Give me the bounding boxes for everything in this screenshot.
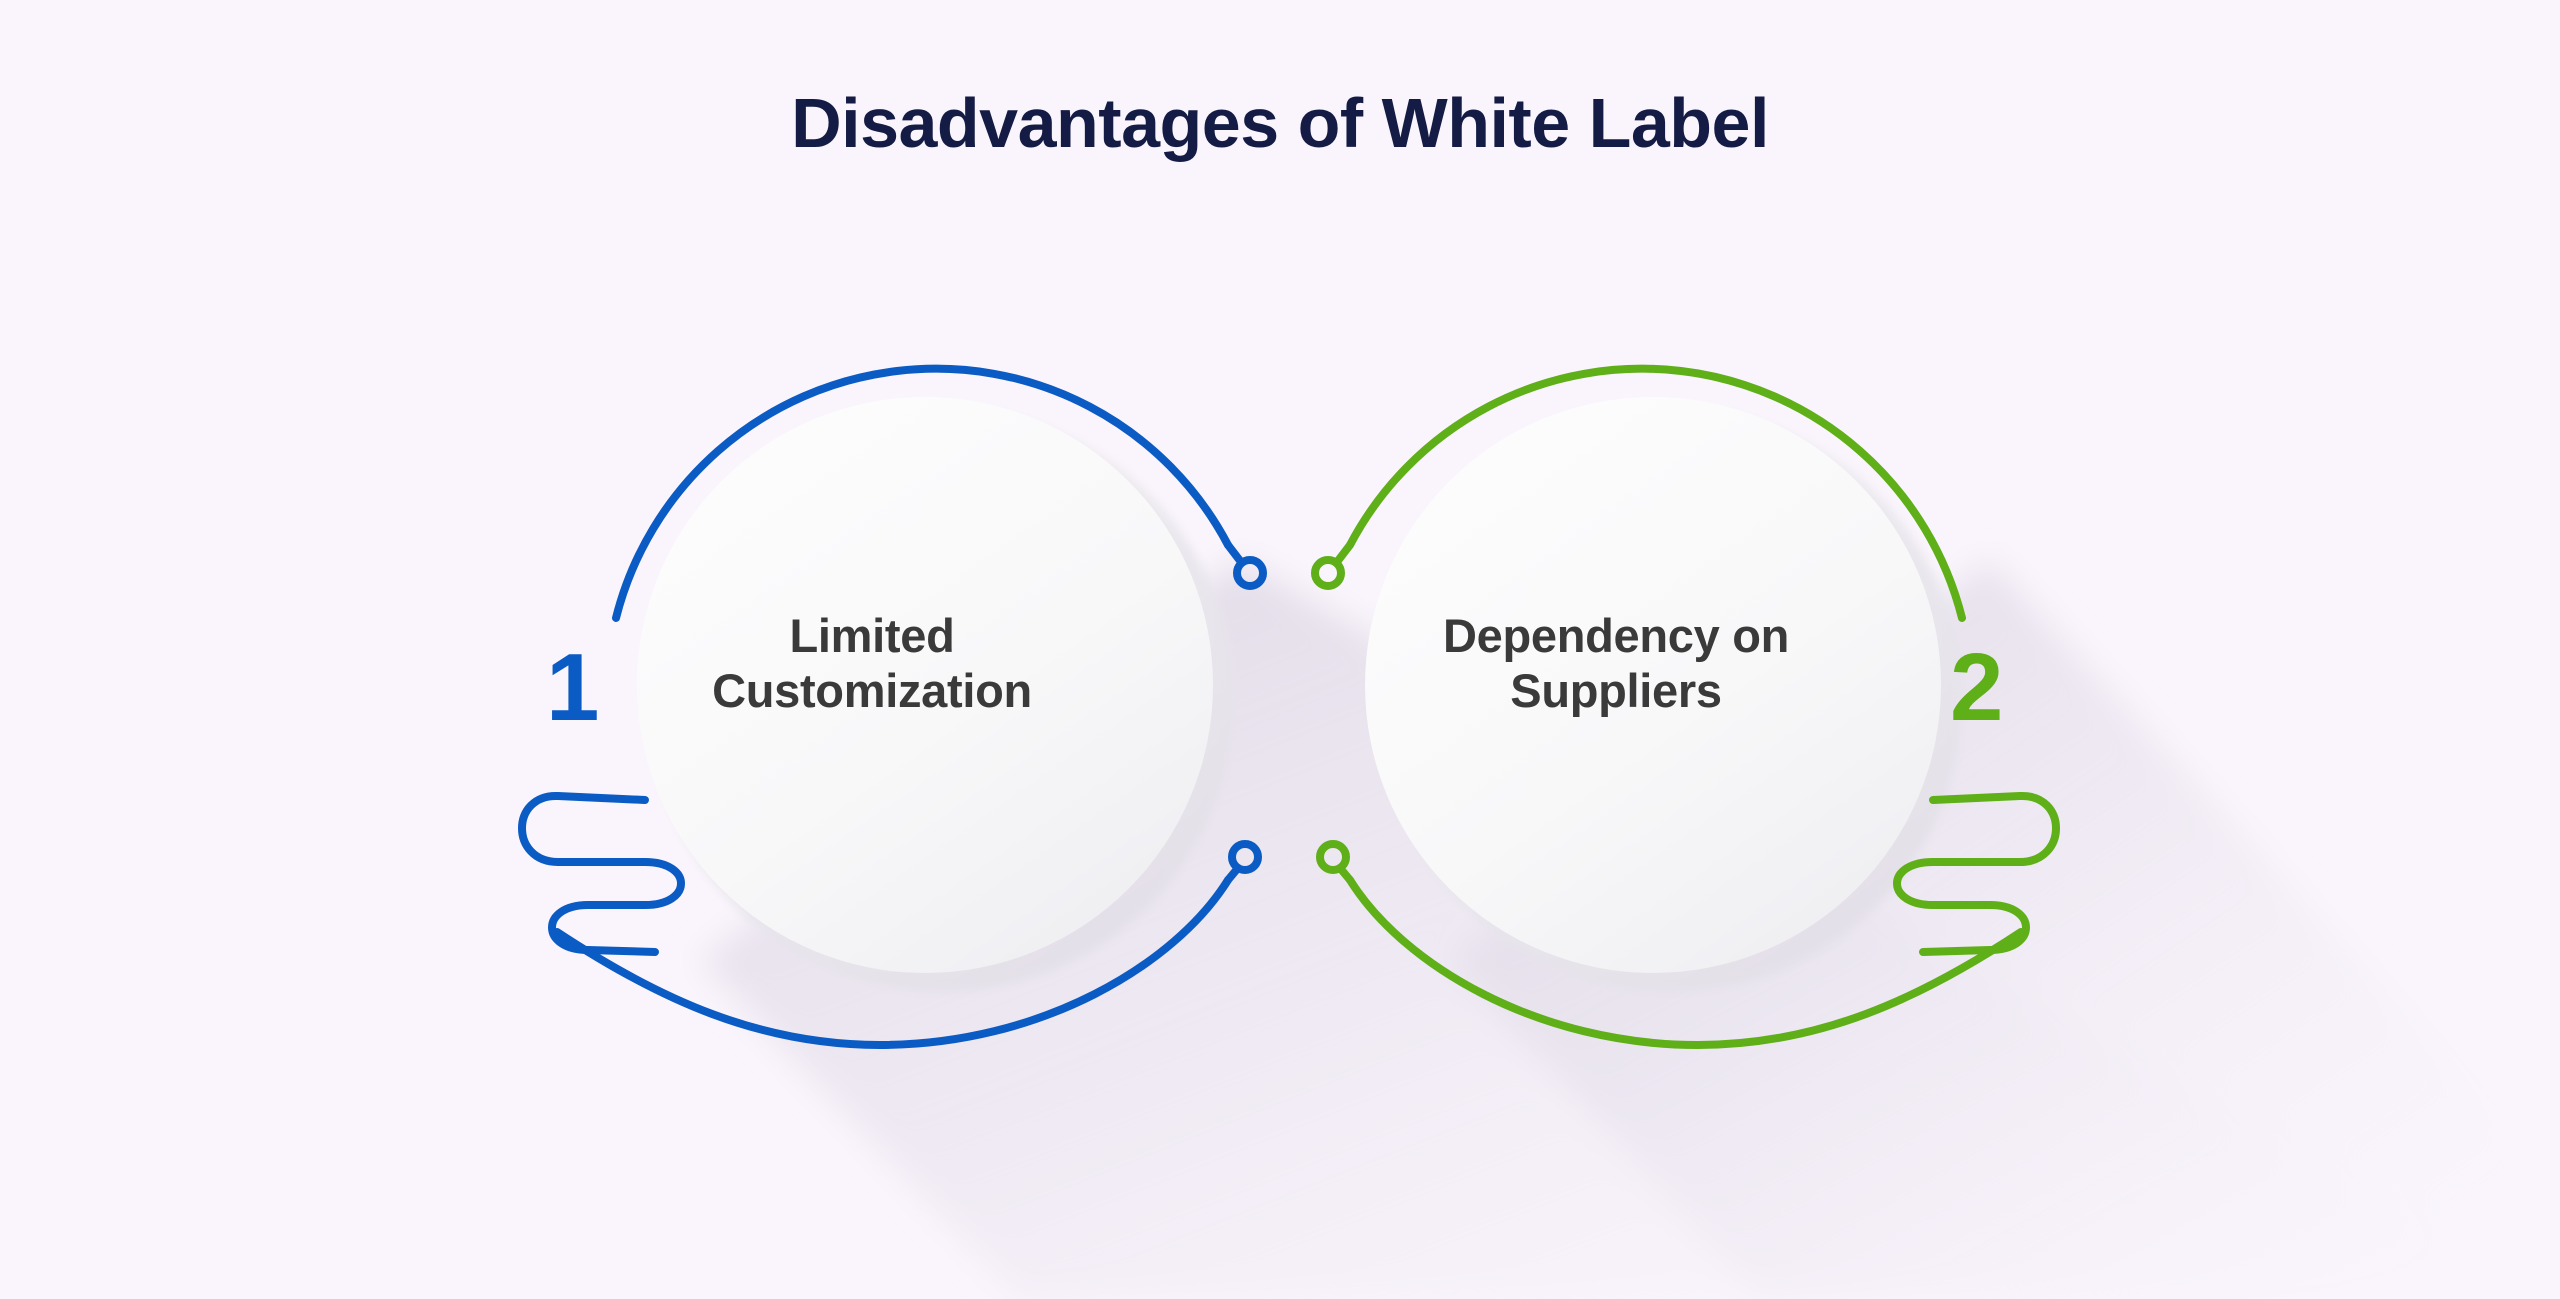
serpentine-connector-icon-1	[522, 796, 681, 952]
diagram-stage	[0, 0, 2560, 1299]
node-2-label: Dependency on Suppliers	[1386, 608, 1846, 719]
node-2-number: 2	[1950, 640, 2003, 736]
node-1-number: 1	[546, 640, 599, 736]
node-2-upper-stub	[1337, 545, 1350, 562]
ring-node-icon-2-top	[1315, 560, 1341, 586]
infographic-canvas: Disadvantages of White Label	[0, 0, 2560, 1299]
node-1-upper-stub	[1228, 545, 1241, 562]
node-1-label: Limited Customization	[652, 608, 1092, 719]
